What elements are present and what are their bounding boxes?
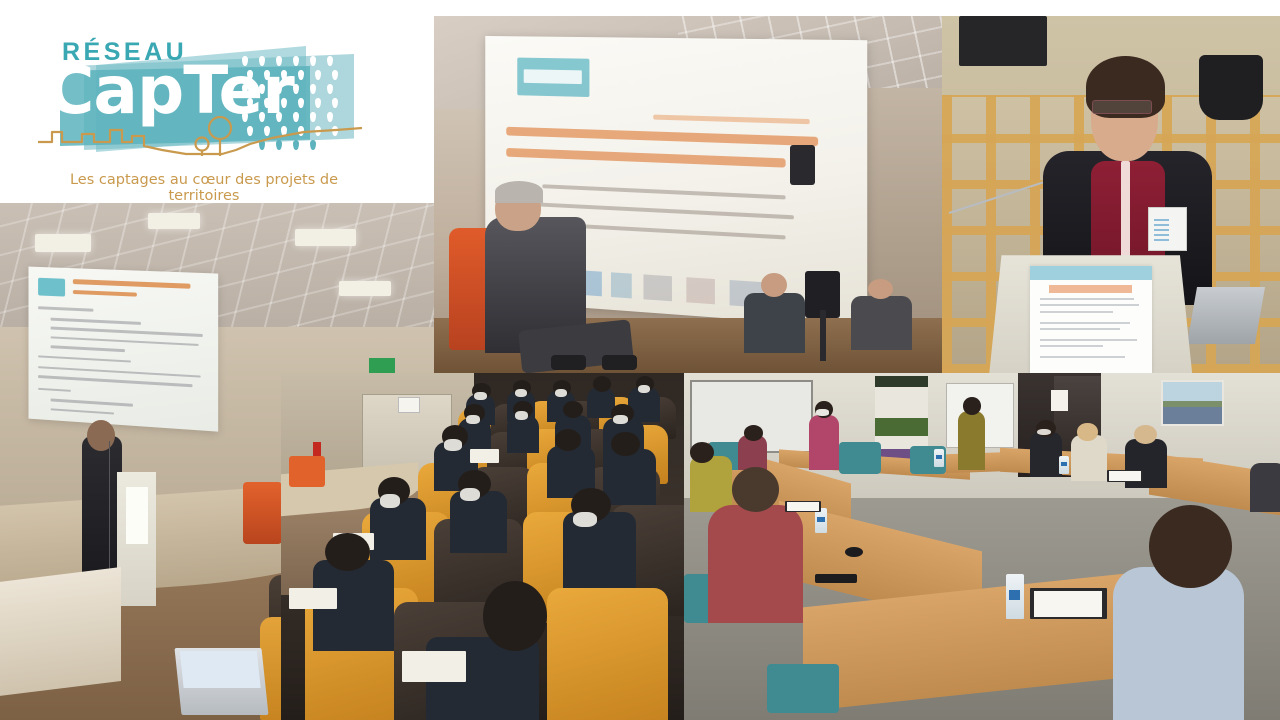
face-mask-icon — [555, 389, 567, 397]
notepad — [289, 588, 337, 609]
water-bottle — [815, 508, 827, 532]
participant-right-head — [1149, 505, 1232, 588]
participant-body — [1030, 432, 1063, 477]
document-title — [1049, 285, 1132, 292]
orange-chair — [243, 482, 282, 544]
participant-body — [1250, 463, 1280, 512]
document-line — [1040, 339, 1137, 341]
notepad — [402, 651, 466, 682]
slide-title-line-1 — [506, 126, 817, 145]
water-bottle — [1006, 574, 1024, 619]
exit-sign-icon — [369, 358, 395, 374]
participant-foreground-head — [732, 467, 780, 512]
rain-drop-icon — [310, 56, 316, 66]
wall-speaker-icon — [790, 145, 815, 184]
face-mask-icon — [515, 411, 529, 420]
projection-screen — [29, 267, 219, 432]
attendee-head — [555, 429, 581, 452]
lectern-paper — [126, 487, 148, 544]
slide-line — [38, 307, 94, 312]
water-bottle — [1059, 456, 1069, 473]
rain-drop-icon — [327, 84, 333, 94]
side-table — [0, 567, 122, 697]
slide-line — [51, 399, 133, 407]
panelist-left — [744, 267, 805, 353]
wall-sign — [398, 397, 420, 413]
shoe — [551, 355, 587, 369]
document-line — [1040, 322, 1130, 324]
round-table-stage-photo — [434, 16, 942, 375]
slide-line — [51, 408, 114, 415]
rain-drop-icon — [332, 70, 338, 80]
presenter-body — [809, 415, 839, 471]
teal-chair — [839, 442, 881, 473]
slide-title-line-2 — [506, 148, 785, 168]
presenter-head — [87, 420, 115, 451]
logo-word-capter: CapTer — [46, 58, 294, 124]
face-mask-icon — [460, 488, 480, 502]
slide-line — [51, 318, 141, 325]
slide-logo — [38, 278, 66, 297]
attendee-body — [603, 449, 655, 505]
participant-body — [690, 456, 732, 512]
face-mask-icon — [515, 389, 527, 397]
puck-device — [845, 547, 863, 557]
face-mask-icon — [613, 415, 628, 425]
lectern-speaker-photo — [942, 16, 1280, 373]
seat — [547, 588, 668, 720]
face-mask-icon — [444, 439, 462, 451]
slide-speaker-1 — [542, 184, 785, 199]
rain-drop-icon — [315, 98, 321, 108]
document-line — [1040, 328, 1120, 330]
facilitator-head — [963, 397, 981, 414]
document-line — [1040, 356, 1125, 358]
reseau-capter-logo: RÉSEAU CapTer Les captages au cœur des p… — [0, 0, 434, 203]
speaker-collar — [1121, 161, 1129, 264]
orange-chair — [289, 456, 325, 487]
document-line — [1040, 311, 1113, 313]
participant-body — [738, 435, 768, 470]
landscape-line-icon — [36, 116, 366, 168]
slide-line — [38, 375, 193, 387]
laptop — [1187, 287, 1265, 344]
ceiling-light — [148, 213, 200, 229]
ceiling-light — [339, 281, 391, 297]
document-header-band — [1030, 266, 1152, 280]
ceiling-light — [295, 229, 356, 247]
shoe — [602, 355, 638, 369]
clipboard — [1107, 470, 1143, 482]
notepad — [470, 449, 498, 463]
participant-right-body — [1113, 567, 1244, 720]
ceiling-light — [35, 234, 91, 252]
seated-man-hair — [495, 181, 543, 203]
slide-line — [38, 356, 131, 364]
slide-line — [38, 388, 71, 393]
attendee-body — [370, 498, 426, 560]
logo-tagline: Les captages au cœur des projets de terr… — [44, 172, 364, 203]
framed-photo — [1161, 380, 1225, 426]
slide-logo — [517, 57, 589, 96]
rain-drop-icon — [327, 56, 333, 66]
water-bottle — [934, 449, 944, 466]
laptop-screen — [180, 650, 260, 688]
slide-subtitle — [73, 290, 137, 297]
attendee-head — [611, 432, 639, 456]
slide-line — [51, 327, 203, 337]
rain-drop-icon — [315, 70, 321, 80]
participant-body — [1071, 435, 1107, 480]
face-mask-icon — [638, 385, 650, 393]
collage-canvas: RÉSEAU CapTer Les captages au cœur des p… — [0, 0, 1280, 720]
slide-line — [51, 346, 126, 352]
microphone-stand — [109, 441, 110, 575]
face-mask-icon — [474, 392, 486, 400]
face-mask-icon — [816, 409, 829, 415]
face-mask-icon — [466, 415, 480, 424]
clipboard — [1030, 588, 1107, 619]
participant-foreground-body — [708, 505, 803, 623]
printed-document — [1030, 266, 1152, 373]
attendee-head — [483, 581, 547, 650]
document-line — [1040, 304, 1140, 306]
attendee-head — [325, 533, 369, 571]
facilitator-body — [958, 411, 985, 470]
panelist-right — [851, 271, 912, 350]
panelist-left-head — [761, 273, 787, 297]
wall-notice — [1051, 390, 1069, 411]
teal-chair — [767, 664, 839, 713]
audience-rows-photo — [281, 373, 684, 720]
rain-drop-icon — [332, 98, 338, 108]
laptop — [174, 648, 268, 715]
workshop-table-photo — [684, 373, 1280, 720]
speaker-stand — [820, 310, 826, 360]
panelist-right-body — [851, 296, 912, 350]
participant-head — [744, 425, 763, 441]
participant-head — [1077, 423, 1097, 440]
slide-title — [73, 279, 191, 289]
rain-drop-icon — [298, 98, 304, 108]
attendee-body — [507, 415, 539, 453]
name-badge — [1148, 207, 1187, 250]
participant-head — [690, 442, 714, 463]
papers — [785, 501, 821, 511]
glasses-icon — [1092, 100, 1151, 115]
wall-screen — [959, 16, 1047, 66]
attendee-body — [450, 491, 506, 553]
document-line — [1040, 298, 1135, 300]
participant-head — [1134, 425, 1157, 444]
slide-eyebrow — [652, 114, 809, 124]
face-mask-icon — [380, 494, 400, 508]
slide-line — [51, 336, 199, 346]
logo-artwork: RÉSEAU CapTer Les captages au cœur des p… — [36, 32, 366, 182]
face-mask-icon — [573, 512, 597, 528]
rain-drop-icon — [310, 84, 316, 94]
panelist-left-body — [744, 293, 805, 353]
smartphone — [815, 574, 857, 582]
document-line — [1040, 345, 1103, 347]
rain-drop-icon — [298, 70, 304, 80]
